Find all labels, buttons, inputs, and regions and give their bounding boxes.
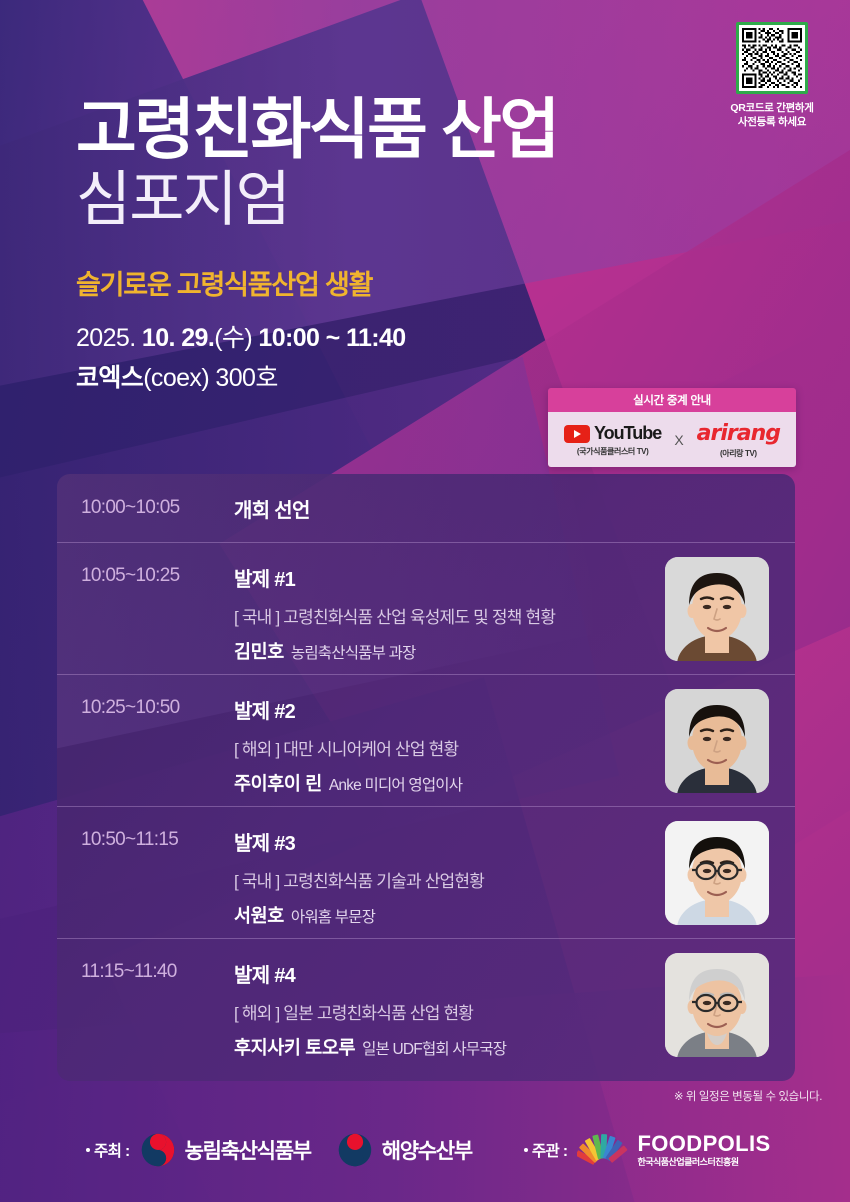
arirang-brand[interactable]: arirang (아리랑 TV) (697, 421, 780, 459)
poster-title-line2: 심포지엄 (76, 166, 558, 233)
qr-caption-line1: QR코드로 간편하게 (716, 101, 828, 115)
speaker-affiliation: Anke 미디어 영업이사 (329, 777, 462, 794)
speaker-affiliation: 아워홈 부문장 (291, 909, 375, 926)
date-prefix: 2025. (76, 324, 142, 352)
headline-block: 고령친화식품 산업 심포지엄 슬기로운 고령식품산업 생활 2025. 10. … (76, 96, 558, 394)
schedule-row: 10:05~10:25발제 #1[ 국내 ] 고령친화식품 산업 육성제도 및 … (57, 542, 795, 674)
date-bold: 10. 29. (142, 324, 214, 352)
schedule-time: 11:15~11:40 (81, 939, 234, 983)
youtube-label: YouTube (594, 423, 661, 444)
youtube-logo: YouTube (564, 423, 661, 444)
foodpolis-wordmark: FOODPOLIS 한국식품산업클러스터진흥원 (637, 1133, 770, 1167)
session-title: 개회 선언 (234, 494, 769, 523)
footer-bar: 주최 : 농림축산식품부 해양수산부 (0, 1098, 850, 1202)
schedule-panel: 10:00~10:05개회 선언10:05~10:25발제 #1[ 국내 ] 고… (57, 474, 795, 1081)
host-label: 주최 : (86, 1139, 130, 1161)
organizer-label-text: 주관 : (532, 1139, 568, 1161)
schedule-row: 10:00~10:05개회 선언 (57, 474, 795, 542)
youtube-play-icon (564, 425, 590, 443)
schedule-row: 10:50~11:15발제 #3[ 국내 ] 고령친화식품 기술과 산업현황서원… (57, 806, 795, 938)
schedule-time: 10:05~10:25 (81, 543, 234, 587)
speaker-name: 후지사키 토오루 (234, 1037, 355, 1058)
bullet-icon (524, 1148, 528, 1152)
speaker-affiliation: 일본 UDF협회 사무국장 (362, 1041, 506, 1058)
speaker-name: 주이후이 린 (234, 773, 322, 794)
foodpolis-logo: FOODPOLIS 한국식품산업클러스터진흥원 (577, 1133, 770, 1167)
poster-title-line1: 고령친화식품 산업 (76, 96, 558, 162)
speaker-name: 서원호 (234, 905, 284, 926)
live-broadcast-box: 실시간 중계 안내 YouTube (국가식품클러스터 TV) X ariran… (548, 388, 796, 467)
speaker-photo (665, 821, 769, 925)
poster-subtitle: 슬기로운 고령식품산업 생활 (76, 263, 558, 302)
arirang-channel-name: (아리랑 TV) (697, 448, 780, 459)
host-org-1: 농림축산식품부 (140, 1132, 311, 1168)
organizer-group: 주관 : FOODPOLIS (524, 1133, 771, 1167)
venue-rest: (coex) 300호 (143, 364, 278, 392)
poster-root: QR코드로 간편하게 사전등록 하세요 고령친화식품 산업 심포지엄 슬기로운 … (0, 0, 850, 1202)
foodpolis-fan-icon (577, 1133, 629, 1167)
venue-bold: 코엑스 (76, 364, 143, 392)
foodpolis-subname: 한국식품산업클러스터진흥원 (637, 1158, 770, 1167)
schedule-time: 10:25~10:50 (81, 675, 234, 719)
speaker-photo (665, 557, 769, 661)
event-datetime: 2025. 10. 29.(수) 10:00 ~ 11:40 (76, 318, 558, 354)
organizer-label: 주관 : (524, 1139, 568, 1161)
qr-caption-line2: 사전등록 하세요 (716, 115, 828, 129)
separator-x: X (674, 432, 683, 448)
qr-code-icon[interactable] (736, 22, 808, 94)
schedule-time: 10:00~10:05 (81, 497, 234, 519)
time-range: 10:00 ~ 11:40 (258, 324, 405, 352)
speaker-affiliation: 농림축산식품부 과장 (291, 645, 416, 662)
host-group: 주최 : 농림축산식품부 해양수산부 (86, 1132, 472, 1168)
live-broadcast-header: 실시간 중계 안내 (548, 388, 796, 412)
host-label-text: 주최 : (94, 1139, 130, 1161)
schedule-row: 11:15~11:40발제 #4[ 해외 ] 일본 고령친화식품 산업 현황후지… (57, 938, 795, 1070)
taegeuk-icon (337, 1132, 373, 1168)
qr-caption: QR코드로 간편하게 사전등록 하세요 (716, 101, 828, 129)
schedule-rows: 10:00~10:05개회 선언10:05~10:25발제 #1[ 국내 ] 고… (57, 474, 795, 1070)
arirang-label: arirang (697, 421, 780, 446)
date-day: (수) (214, 324, 258, 352)
qr-registration-block[interactable]: QR코드로 간편하게 사전등록 하세요 (716, 22, 828, 129)
speaker-photo (665, 953, 769, 1057)
speaker-photo (665, 689, 769, 793)
schedule-row: 10:25~10:50발제 #2[ 해외 ] 대만 시니어케어 산업 현황주이후… (57, 674, 795, 806)
event-venue: 코엑스(coex) 300호 (76, 358, 558, 394)
schedule-time: 10:50~11:15 (81, 807, 234, 851)
host-org-2: 해양수산부 (337, 1132, 472, 1168)
bullet-icon (86, 1148, 90, 1152)
schedule-content: 개회 선언 (234, 494, 769, 523)
youtube-channel-name: (국가식품클러스터 TV) (564, 446, 661, 457)
foodpolis-name: FOODPOLIS (637, 1133, 770, 1155)
youtube-brand[interactable]: YouTube (국가식품클러스터 TV) (564, 423, 661, 457)
taegeuk-icon (140, 1132, 176, 1168)
host-org-name-1: 농림축산식품부 (185, 1135, 311, 1165)
speaker-name: 김민호 (234, 641, 284, 662)
live-broadcast-body: YouTube (국가식품클러스터 TV) X arirang (아리랑 TV) (548, 412, 796, 467)
host-org-name-2: 해양수산부 (382, 1135, 472, 1165)
